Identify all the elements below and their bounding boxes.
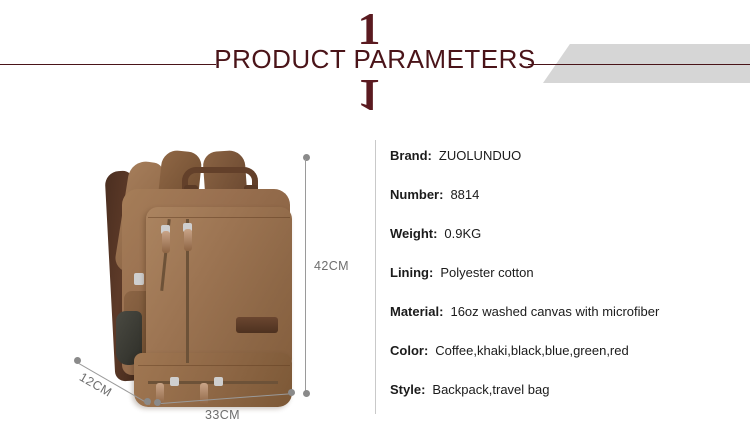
dimension-line-height xyxy=(305,159,306,393)
spec-label-weight: Weight: xyxy=(390,226,437,241)
spec-label-material: Material: xyxy=(390,304,443,319)
zipper-pull-main xyxy=(184,229,192,251)
dimension-dot-depth-bottom xyxy=(144,398,151,405)
brand-leather-patch xyxy=(236,317,278,333)
bag-seam-bottom xyxy=(138,365,290,366)
spec-value-material: 16oz washed canvas with microfiber xyxy=(450,304,659,319)
spec-value-brand: ZUOLUNDUO xyxy=(439,148,521,163)
spec-value-lining: Polyester cotton xyxy=(440,265,533,280)
spec-value-number: 8814 xyxy=(450,187,479,202)
zipper-pull-bottom-b xyxy=(200,383,208,405)
spec-label-style: Style: xyxy=(390,382,425,397)
dimension-dot-width-right xyxy=(288,389,295,396)
spec-label-lining: Lining: xyxy=(390,265,433,280)
dimension-dot-height-bottom xyxy=(303,390,310,397)
backpack-illustration xyxy=(108,145,293,415)
spec-label-brand: Brand: xyxy=(390,148,432,163)
strap-buckle xyxy=(134,273,144,285)
decorative-one-bottom-glyph: 1 xyxy=(358,72,381,118)
spec-row-material: Material: 16oz washed canvas with microf… xyxy=(390,304,740,343)
spec-value-weight: 0.9KG xyxy=(444,226,481,241)
spec-value-style: Backpack,travel bag xyxy=(432,382,549,397)
zipper-slider-bottom-b xyxy=(214,377,223,386)
dimension-dot-width-left xyxy=(154,399,161,406)
spec-row-color: Color: Coffee,khaki,black,blue,green,red xyxy=(390,343,740,382)
page-header: 1 1 PRODUCT PARAMETERS xyxy=(0,0,750,125)
product-parameters-page: 1 1 PRODUCT PARAMETERS xyxy=(0,0,750,443)
zipper-slider-bottom-a xyxy=(170,377,179,386)
section-divider xyxy=(375,140,376,414)
spec-row-weight: Weight: 0.9KG xyxy=(390,226,740,265)
spec-list: Brand: ZUOLUNDUO Number: 8814 Weight: 0.… xyxy=(390,148,740,421)
dimension-label-height: 42CM xyxy=(314,259,349,273)
spec-row-style: Style: Backpack,travel bag xyxy=(390,382,740,421)
product-image-area: 42CM 33CM 12CM xyxy=(30,135,360,415)
page-title: PRODUCT PARAMETERS xyxy=(0,44,750,75)
dimension-label-width: 33CM xyxy=(205,408,240,422)
zipper-pull-front xyxy=(162,231,170,253)
bag-seam-top xyxy=(148,217,290,218)
spec-row-number: Number: 8814 xyxy=(390,187,740,226)
spec-label-color: Color: xyxy=(390,343,428,358)
spec-label-number: Number: xyxy=(390,187,443,202)
spec-row-lining: Lining: Polyester cotton xyxy=(390,265,740,304)
spec-value-color: Coffee,khaki,black,blue,green,red xyxy=(435,343,628,358)
zipper-bottom xyxy=(148,381,278,384)
spec-row-brand: Brand: ZUOLUNDUO xyxy=(390,148,740,187)
